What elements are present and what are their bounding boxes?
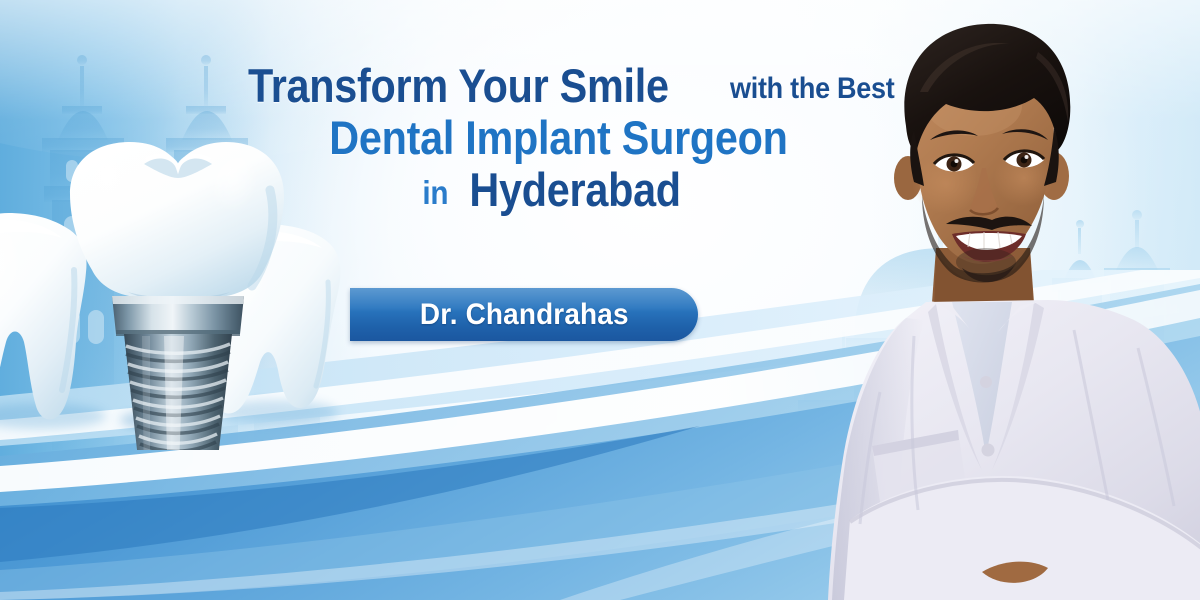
headline-block: Transform Your Smilewith the Best Dental… xyxy=(248,62,868,214)
titanium-screw-post xyxy=(112,296,244,450)
lab-coat xyxy=(828,300,1200,600)
doctor-portrait xyxy=(786,0,1200,600)
headline-in-prefix: in xyxy=(422,176,448,210)
coat-button xyxy=(980,376,992,388)
doctor-name-label: Dr. Chandrahas xyxy=(420,298,629,332)
headline-line-1: Transform Your Smilewith the Best xyxy=(248,62,868,110)
headline-line-3: inHyderabad xyxy=(248,166,868,214)
headline-hyderabad: Hyderabad xyxy=(469,166,680,214)
dental-banner: Transform Your Smilewith the Best Dental… xyxy=(0,0,1200,600)
headline-line-2: Dental Implant Surgeon xyxy=(248,114,868,162)
headline-dental-implant-surgeon: Dental Implant Surgeon xyxy=(329,114,787,162)
doctor-name-button[interactable]: Dr. Chandrahas xyxy=(350,288,698,341)
coat-button xyxy=(982,444,995,457)
doctor-head xyxy=(894,24,1070,283)
headline-transform-your-smile: Transform Your Smile xyxy=(248,62,669,110)
molar-tooth-left xyxy=(0,213,86,420)
